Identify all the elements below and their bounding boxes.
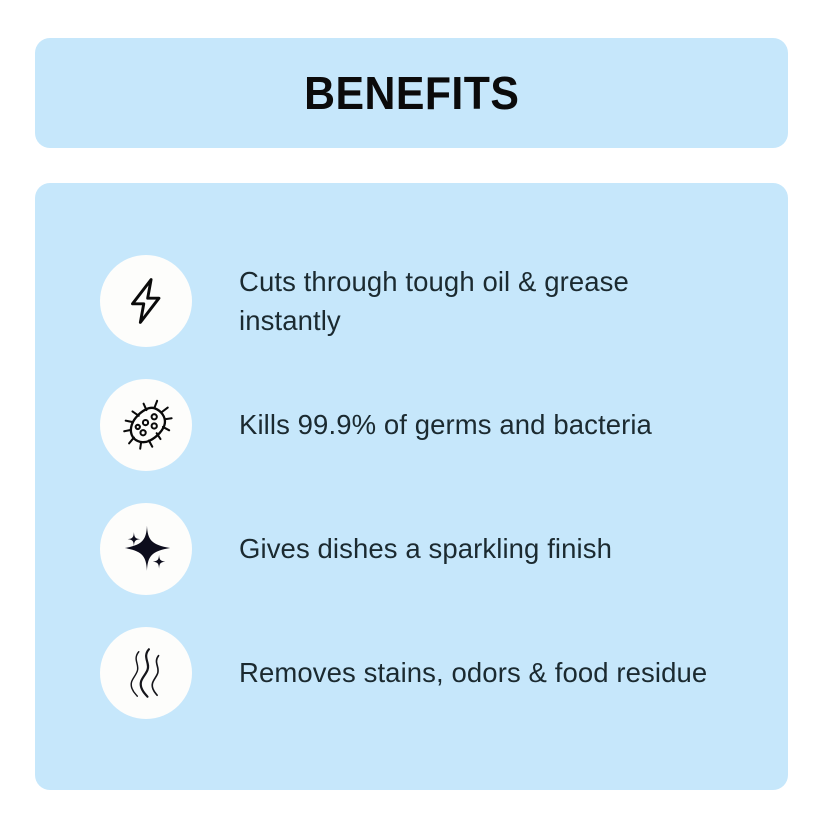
icon-badge-3 [100,503,192,595]
benefits-poster: BENEFITS Cuts through tough oil & grease… [0,0,823,823]
icon-badge-1 [100,255,192,347]
benefit-item-3: Gives dishes a sparkling finish [100,487,748,611]
bacteria-germ-icon [117,396,175,454]
header-panel: BENEFITS [35,38,788,148]
odor-waves-icon [117,644,175,702]
benefit-text-3: Gives dishes a sparkling finish [239,529,612,568]
icon-badge-4 [100,627,192,719]
benefit-item-1: Cuts through tough oil & grease instantl… [100,239,748,363]
benefits-panel: Cuts through tough oil & grease instantl… [35,183,788,790]
page-title: BENEFITS [304,70,519,116]
icon-badge-2 [100,379,192,471]
panel-divider-gap [35,148,788,183]
sparkle-shine-icon [117,520,175,578]
benefit-item-2: Kills 99.9% of germs and bacteria [100,363,748,487]
benefit-item-4: Removes stains, odors & food residue [100,611,748,735]
benefit-text-1: Cuts through tough oil & grease instantl… [239,262,709,340]
benefit-text-4: Removes stains, odors & food residue [239,653,707,692]
lightning-bolt-icon [119,274,173,328]
benefit-text-2: Kills 99.9% of germs and bacteria [239,405,652,444]
